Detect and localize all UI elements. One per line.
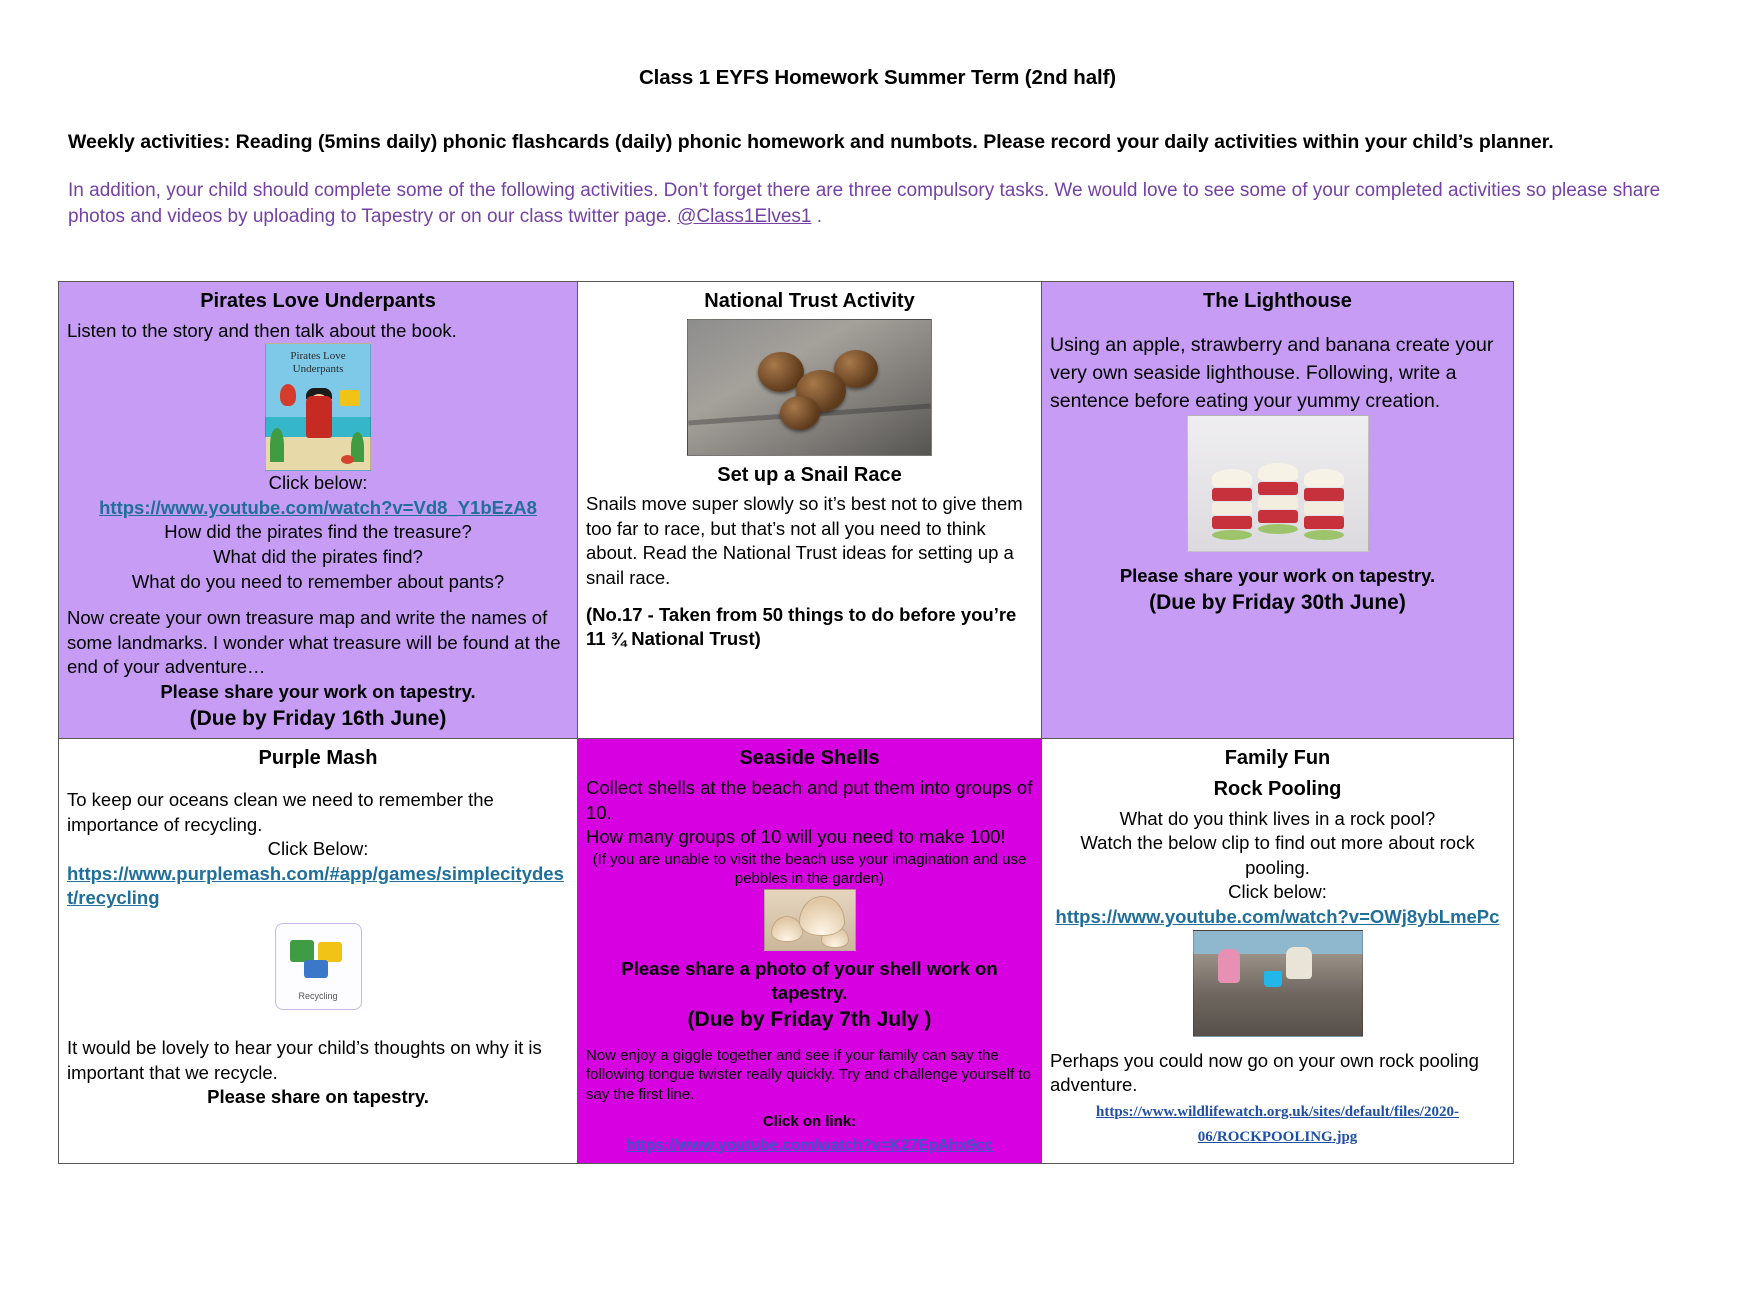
purple-mash-paragraph-1: To keep our oceans clean we need to reme…	[67, 788, 569, 837]
homework-grid-page: Class 1 EYFS Homework Summer Term (2nd h…	[0, 66, 1755, 1307]
rock-pooling-youtube-link[interactable]: https://www.youtube.com/watch?v=OWj8ybLm…	[1056, 906, 1500, 927]
pirates-share-note: Please share your work on tapestry.	[67, 680, 569, 705]
treasure-shape	[340, 390, 360, 406]
cell-family-fun-rock-pooling: Family Fun Rock Pooling What do you thin…	[1042, 739, 1514, 1163]
spacer	[67, 1010, 569, 1036]
fruit-tower-2	[1258, 463, 1298, 535]
spacer	[67, 911, 569, 923]
cell-title-rock-pooling: Rock Pooling	[1050, 776, 1505, 803]
seaside-shells-due-date: (Due by Friday 7th July )	[586, 1006, 1033, 1034]
cell-national-trust-activity: National Trust Activity Set up a Snail R…	[578, 282, 1042, 739]
cell-pirates-love-underpants: Pirates Love Underpants Listen to the st…	[59, 282, 578, 739]
pirates-treasure-map-paragraph: Now create your own treasure map and wri…	[67, 606, 569, 680]
pirates-youtube-link[interactable]: https://www.youtube.com/watch?v=Vd8_Y1bE…	[99, 497, 537, 518]
recycling-bin-yellow-icon	[318, 942, 342, 962]
pirates-question-2: What did the pirates find?	[67, 545, 569, 570]
activity-grid: Pirates Love Underpants Listen to the st…	[58, 281, 1514, 1164]
seaside-shells-share-note: Please share a photo of your shell work …	[586, 957, 1033, 1006]
seaside-shells-youtube-link[interactable]: https://www.youtube.com/watch?v=K27EpAhx…	[626, 1137, 993, 1154]
child-figure-1	[1218, 949, 1240, 983]
cell-title-pirates: Pirates Love Underpants	[67, 288, 569, 315]
pirate-body-shape	[306, 396, 332, 438]
seashells-photo	[764, 889, 856, 951]
wildlifewatch-link-line-2[interactable]: 06/ROCKPOOLING.jpg	[1198, 1129, 1358, 1145]
seaside-shells-tongue-twister-text: Now enjoy a giggle together and see if y…	[586, 1046, 1033, 1105]
recycling-icon-image: Recycling	[275, 923, 362, 1010]
strawberry-seg	[1258, 482, 1298, 495]
banana-seg	[1258, 496, 1298, 509]
rock-pooling-photo	[1193, 930, 1363, 1037]
seaweed-left-shape	[270, 428, 284, 462]
fruit-tower-3	[1304, 469, 1344, 541]
snail-race-subtitle: Set up a Snail Race	[586, 462, 1033, 489]
seaside-shells-line-1: Collect shells at the beach and put them…	[586, 776, 1033, 825]
spacer	[586, 591, 1033, 603]
pirates-click-label: Click below:	[67, 471, 569, 496]
purple-mash-share-note: Please share on tapestry.	[67, 1085, 569, 1110]
pirates-question-1: How did the pirates find the treasure?	[67, 520, 569, 545]
pirates-question-3: What do you need to remember about pants…	[67, 570, 569, 595]
lighthouse-paragraph: Using an apple, strawberry and banana cr…	[1050, 331, 1505, 416]
spacer	[586, 1034, 1033, 1046]
recycling-icon-caption: Recycling	[276, 991, 361, 1003]
cell-title-national-trust: National Trust Activity	[586, 288, 1033, 315]
snails-photo	[687, 319, 932, 456]
strawberry-seg	[1212, 488, 1252, 501]
child-figure-2	[1286, 947, 1312, 979]
rock-pooling-click-label: Click below:	[1050, 880, 1505, 905]
recycling-bin-green-icon	[290, 940, 314, 962]
spacer	[1050, 552, 1505, 564]
strawberry-seg	[1304, 488, 1344, 501]
banana-seg	[1212, 502, 1252, 515]
strawberry-seg	[1304, 516, 1344, 529]
grid-row-top: Pirates Love Underpants Listen to the st…	[59, 282, 1514, 739]
spacer	[67, 594, 569, 606]
shell-shape-1	[799, 896, 845, 936]
seaside-shells-note: (If you are unable to visit the beach us…	[586, 850, 1033, 889]
shell-shape-2	[771, 916, 803, 942]
fruit-tower-1	[1212, 469, 1252, 541]
seaside-shells-click-label: Click on link:	[586, 1112, 1033, 1132]
purple-mash-paragraph-2: It would be lovely to hear your child’s …	[67, 1036, 569, 1085]
grid-row-bottom: Purple Mash To keep our oceans clean we …	[59, 739, 1514, 1163]
spacer	[1050, 319, 1505, 331]
recycling-bin-blue-icon	[304, 960, 328, 978]
banana-seg	[1304, 502, 1344, 515]
snail-shell-4	[780, 396, 820, 430]
cell-title-family-fun: Family Fun	[1050, 745, 1505, 772]
rock-pooling-paragraph: Perhaps you could now go on your own roc…	[1050, 1049, 1505, 1098]
rock-pooling-line-1: What do you think lives in a rock pool?	[1050, 807, 1505, 832]
cell-title-purple-mash: Purple Mash	[67, 745, 569, 772]
bucket-shape	[1264, 971, 1282, 987]
intro-text: In addition, your child should complete …	[68, 180, 1660, 226]
banana-cap	[1212, 469, 1252, 487]
apple-base	[1258, 524, 1298, 534]
pirates-intro-line: Listen to the story and then talk about …	[67, 319, 569, 344]
snail-race-paragraph: Snails move super slowly so it’s best no…	[586, 492, 1033, 590]
cell-title-seaside-shells: Seaside Shells	[586, 745, 1033, 772]
cell-the-lighthouse: The Lighthouse Using an apple, strawberr…	[1042, 282, 1514, 739]
lighthouse-share-note: Please share your work on tapestry.	[1050, 564, 1505, 589]
fruit-lighthouse-photo	[1187, 415, 1369, 552]
weekly-activities-text: Weekly activities: Reading (5mins daily)…	[68, 130, 1687, 154]
rock-pooling-line-2: Watch the below clip to find out more ab…	[1050, 831, 1505, 880]
seaside-shells-line-2: How many groups of 10 will you need to m…	[586, 825, 1033, 850]
pirates-due-date: (Due by Friday 16th June)	[67, 705, 569, 733]
spacer	[67, 776, 569, 788]
purple-mash-click-label: Click Below:	[67, 837, 569, 862]
strawberry-seg	[1258, 510, 1298, 523]
banana-cap	[1258, 463, 1298, 481]
national-trust-source-note: (No.17 - Taken from 50 things to do befo…	[586, 603, 1033, 652]
apple-base	[1212, 530, 1252, 540]
parrot-shape	[280, 384, 296, 406]
book-cover-title: Pirates Love Underpants	[266, 350, 370, 375]
purple-mash-link[interactable]: https://www.purplemash.com/#app/games/si…	[67, 863, 564, 909]
apple-base	[1304, 530, 1344, 540]
banana-cap	[1304, 469, 1344, 487]
twitter-handle-link[interactable]: @Class1Elves1	[677, 206, 811, 227]
intro-paragraph: In addition, your child should complete …	[68, 178, 1687, 229]
cell-title-lighthouse: The Lighthouse	[1050, 288, 1505, 315]
wildlifewatch-link-line-1[interactable]: https://www.wildlifewatch.org.uk/sites/d…	[1096, 1104, 1459, 1120]
strawberry-seg	[1212, 516, 1252, 529]
cell-seaside-shells: Seaside Shells Collect shells at the bea…	[578, 739, 1042, 1163]
lighthouse-due-date: (Due by Friday 30th June)	[1050, 589, 1505, 617]
pirates-book-cover-image: Pirates Love Underpants	[265, 343, 371, 471]
crab-shape	[341, 455, 354, 464]
intro-tail: .	[811, 206, 822, 227]
spacer	[1050, 1037, 1505, 1049]
page-title: Class 1 EYFS Homework Summer Term (2nd h…	[0, 66, 1755, 90]
cell-purple-mash: Purple Mash To keep our oceans clean we …	[59, 739, 578, 1163]
